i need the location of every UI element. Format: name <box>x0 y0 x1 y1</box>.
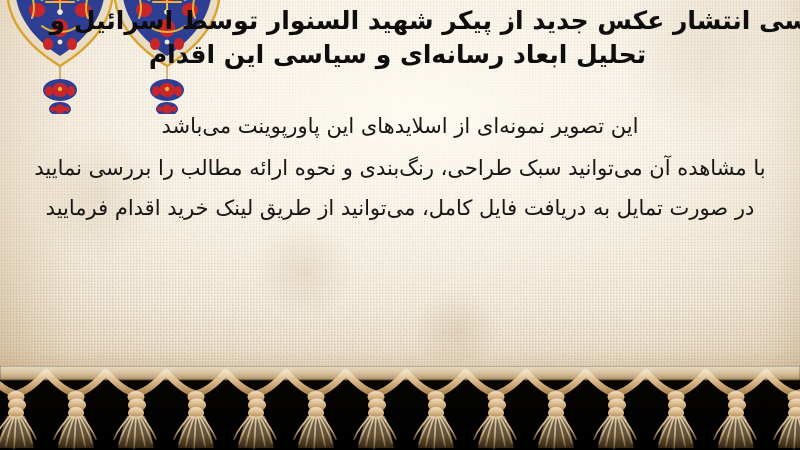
slide-body: این تصویر نمونه‌ای از اسلایدهای این پاور… <box>6 106 794 228</box>
tassel-fringe <box>0 366 800 450</box>
body-line-1: این تصویر نمونه‌ای از اسلایدهای این پاور… <box>6 106 794 146</box>
slide-title-line-2: تحلیل ابعاد رسانه‌ای و سیاسی این اقدام <box>0 38 795 72</box>
slide-title-line-1: رسی انتشار عکس جدید از پیکر شهید السنوار… <box>0 4 800 38</box>
body-line-2: با مشاهده آن می‌توانید سبک طراحی، رنگ‌بن… <box>6 148 794 188</box>
body-line-3: در صورت تمایل به دریافت فایل کامل، می‌تو… <box>6 188 794 228</box>
presentation-slide: رسی انتشار عکس جدید از پیکر شهید السنوار… <box>0 0 800 450</box>
slide-title: رسی انتشار عکس جدید از پیکر شهید السنوار… <box>0 4 795 72</box>
bottom-black-band <box>0 366 800 450</box>
